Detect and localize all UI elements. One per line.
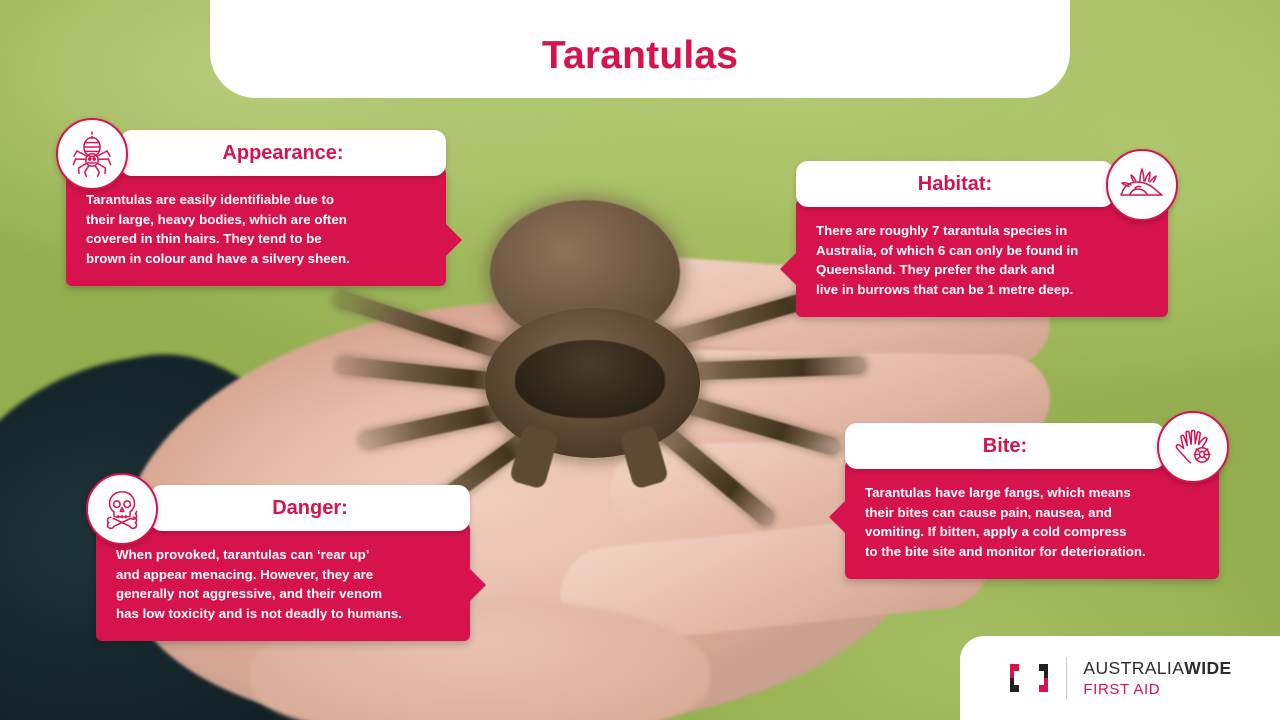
tarantula-carapace (515, 340, 665, 418)
logo-first-aid-text: FIRST AID (1083, 681, 1231, 698)
card-pointer-tail (829, 501, 845, 533)
spider-icon (56, 118, 128, 190)
fact-card-appearance[interactable]: Appearance: Tarantulas are easily identi… (66, 130, 446, 286)
fact-card-habitat[interactable]: Habitat: There are roughly 7 tarantula s… (796, 161, 1168, 317)
card-pointer-tail (446, 224, 462, 256)
card-header-bite: Bite: (845, 423, 1165, 469)
card-body-bite: Tarantulas have large fangs, which means… (845, 461, 1219, 579)
fact-card-danger[interactable]: Danger: When provoked, tarantulas can ‘r… (96, 485, 470, 641)
card-pointer-tail (780, 253, 796, 285)
card-body-danger: When provoked, tarantulas can ‘rear up’ … (96, 523, 470, 641)
spider-bite-hand-icon (1157, 411, 1229, 483)
card-header-appearance: Appearance: (120, 130, 446, 176)
logo-australia-text: AUSTRALIA (1083, 658, 1184, 678)
logo-line-one: AUSTRALIAWIDE (1083, 658, 1231, 679)
fact-card-bite[interactable]: Bite: Tarantulas have large fangs, which… (845, 423, 1219, 579)
cross-quadrant-logo-mark (1008, 657, 1050, 699)
title-bar: Tarantulas (210, 0, 1070, 98)
card-heading: Bite: (845, 435, 1165, 458)
skull-crossbones-icon (86, 473, 158, 545)
logo-wide-text: WIDE (1184, 658, 1231, 678)
card-body-habitat: There are roughly 7 tarantula species in… (796, 199, 1168, 317)
card-header-danger: Danger: (150, 485, 470, 531)
brand-logo-plate[interactable]: AUSTRALIAWIDE FIRST AID (960, 636, 1280, 720)
card-heading: Appearance: (120, 142, 446, 165)
card-body-text: Tarantulas have large fangs, which means… (865, 483, 1199, 561)
card-body-text: Tarantulas are easily identifiable due t… (86, 190, 426, 268)
card-body-appearance: Tarantulas are easily identifiable due t… (66, 168, 446, 286)
card-heading: Habitat: (796, 173, 1114, 196)
page-title: Tarantulas (542, 34, 738, 78)
logo-divider (1066, 657, 1067, 699)
card-body-text: There are roughly 7 tarantula species in… (816, 221, 1148, 299)
card-pointer-tail (470, 569, 486, 601)
card-header-habitat: Habitat: (796, 161, 1114, 207)
card-heading: Danger: (150, 497, 470, 520)
burrow-landscape-icon (1106, 149, 1178, 221)
logo-wordmark: AUSTRALIAWIDE FIRST AID (1083, 658, 1231, 698)
card-body-text: When provoked, tarantulas can ‘rear up’ … (116, 545, 450, 623)
